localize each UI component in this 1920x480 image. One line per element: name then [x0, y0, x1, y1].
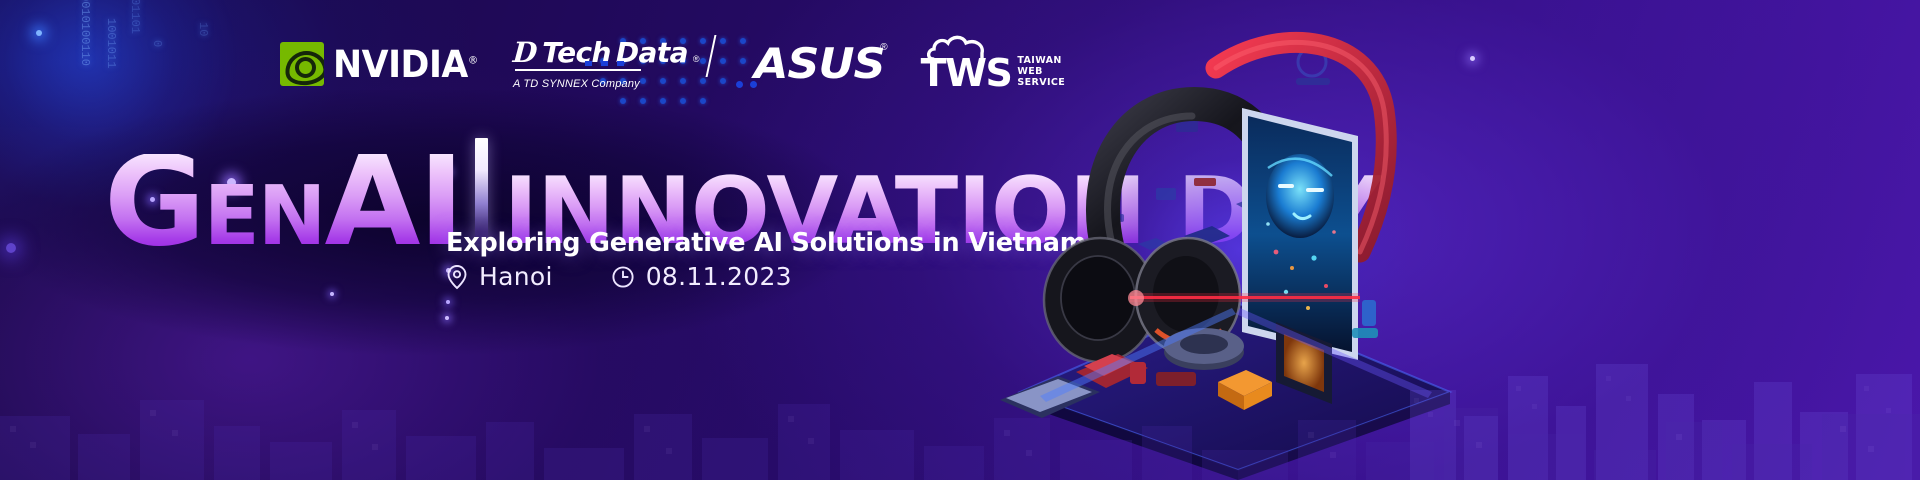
headline-genai-en: EN: [204, 169, 325, 264]
registered-mark: ®: [880, 42, 887, 53]
illustration-base-glow: [1040, 308, 1432, 402]
nvidia-wordmark: NVIDIA®: [333, 46, 478, 83]
techdata-monogram-icon: D: [512, 39, 538, 67]
sparkle-dot: [446, 300, 450, 304]
sparkle-dot: [36, 30, 42, 36]
event-meta-row: Hanoi 08.11.2023: [446, 262, 792, 291]
tws-sublabel: TAIWAN WEB SERVICE: [1017, 55, 1065, 88]
sponsor-logo-tws[interactable]: TWS TAIWAN WEB SERVICE: [921, 36, 1066, 92]
registered-mark: ®: [468, 53, 478, 66]
sparkle-dot: [6, 243, 16, 253]
event-date-label: 08.11.2023: [646, 262, 792, 291]
asus-wordmark: ASUS: [754, 43, 884, 85]
event-banner: 0010100110 1001011 01101 0 10 NVIDIA®: [0, 0, 1920, 480]
binary-column: 10: [196, 22, 209, 36]
sparkle-dot: [445, 316, 449, 320]
headline-genai: GENAI: [104, 154, 463, 251]
right-city-silhouette: [1400, 320, 1920, 480]
clock-icon: [611, 265, 635, 289]
sponsor-logo-bar: NVIDIA® D Tech Data ® A TD SYNNEX Compan…: [280, 36, 1065, 92]
illustration-base-plate: [1020, 300, 1450, 480]
binary-column: 0: [150, 40, 163, 47]
binary-column: 01101: [128, 0, 141, 34]
illustration-foreground-devices: [1000, 300, 1378, 418]
sparkle-dot: [330, 292, 334, 296]
techdata-accent-square: [585, 61, 592, 66]
headline-genai-ai: AI: [324, 130, 462, 274]
techdata-accent-square: [601, 61, 608, 66]
sponsor-logo-techdata[interactable]: D Tech Data ® A TD SYNNEX Company: [513, 32, 700, 96]
event-date: 08.11.2023: [611, 262, 792, 291]
tws-cloud-logo-icon: [927, 34, 993, 60]
techdata-rule: [705, 35, 716, 77]
sponsor-logo-nvidia[interactable]: NVIDIA®: [280, 36, 487, 92]
nvidia-eye-logo-icon: [280, 42, 324, 86]
tws-sublabel-line-3: SERVICE: [1017, 77, 1065, 88]
techdata-word-data: Data: [616, 39, 688, 67]
techdata-wordmark: D Tech Data ®: [513, 39, 700, 67]
headline-genai-g: G: [104, 130, 204, 274]
registered-mark: ®: [693, 54, 700, 64]
page-subtitle: Exploring Generative AI Solutions in Vie…: [446, 228, 1086, 258]
location-pin-icon: [446, 264, 468, 290]
event-location-label: Hanoi: [479, 262, 553, 291]
sparkle-dot: [1470, 56, 1475, 61]
techdata-underline: [515, 69, 641, 71]
tws-sublabel-line-2: WEB: [1017, 66, 1065, 77]
tws-sublabel-line-1: TAIWAN: [1017, 55, 1065, 66]
illustration-laser-beam: [1128, 290, 1360, 306]
event-location: Hanoi: [446, 262, 553, 291]
sponsor-logo-asus[interactable]: ASUS ®: [754, 36, 877, 92]
techdata-accent-square: [617, 61, 624, 66]
binary-column: 0010100110: [78, 0, 91, 66]
binary-column: 1001011: [104, 18, 117, 68]
nvidia-wordmark-text: NVIDIA: [333, 43, 468, 86]
techdata-tagline: A TD SYNNEX Company: [513, 78, 640, 90]
